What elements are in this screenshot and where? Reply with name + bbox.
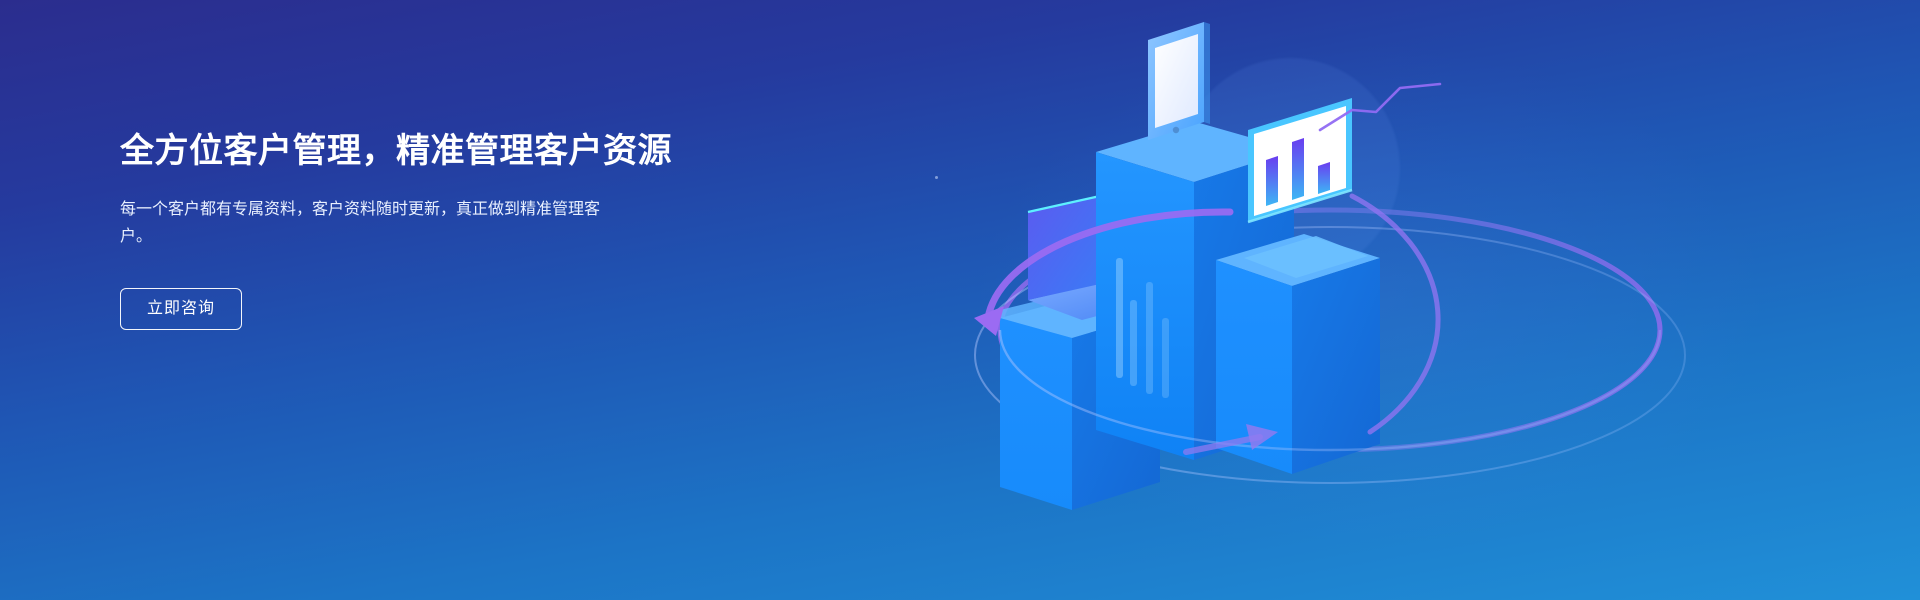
consult-now-button[interactable]: 立即咨询 bbox=[120, 288, 242, 330]
hero-illustration bbox=[900, 0, 1920, 600]
hero-copy-block: 全方位客户管理，精准管理客户资源 每一个客户都有专属资料，客户资料随时更新，真正… bbox=[120, 128, 740, 330]
page-title: 全方位客户管理，精准管理客户资源 bbox=[120, 128, 740, 174]
hero-banner: 全方位客户管理，精准管理客户资源 每一个客户都有专属资料，客户资料随时更新，真正… bbox=[0, 0, 1920, 600]
hero-subtext: 每一个客户都有专属资料，客户资料随时更新，真正做到精准管理客户。 bbox=[120, 196, 600, 250]
